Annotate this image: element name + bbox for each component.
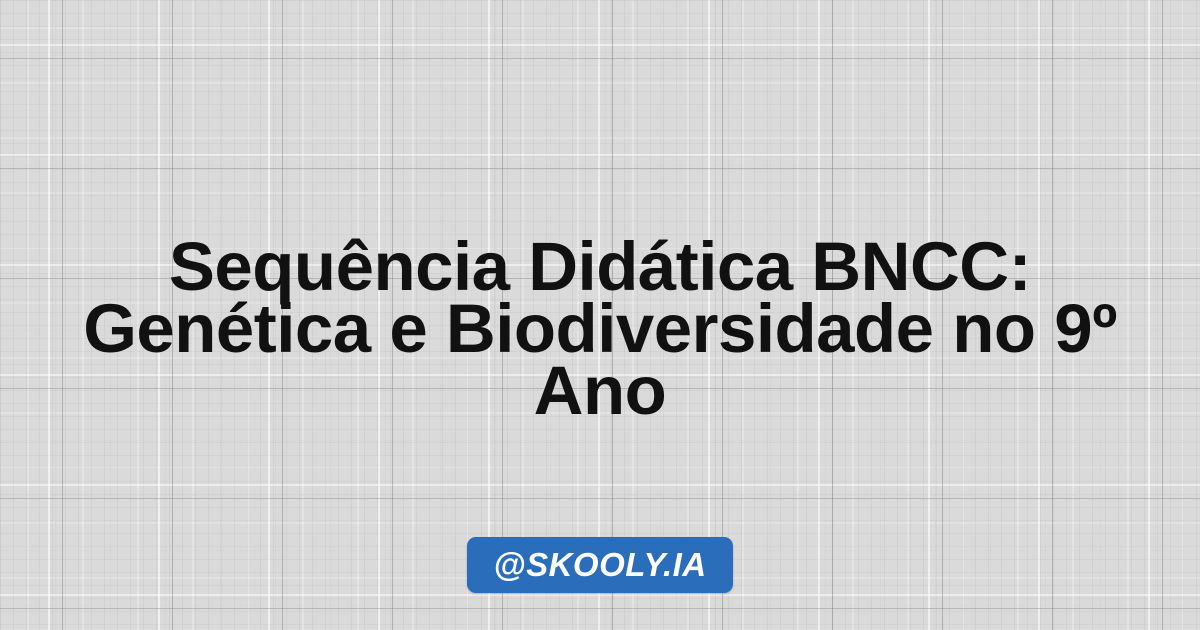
- brand-handle-badge[interactable]: @SKOOLY.IA: [467, 537, 732, 593]
- badge-container: @SKOOLY.IA: [0, 537, 1200, 593]
- og-card: Sequência Didática BNCC: Genética e Biod…: [0, 0, 1200, 630]
- page-title: Sequência Didática BNCC: Genética e Biod…: [18, 236, 1182, 422]
- title-container: Sequência Didática BNCC: Genética e Biod…: [0, 236, 1200, 422]
